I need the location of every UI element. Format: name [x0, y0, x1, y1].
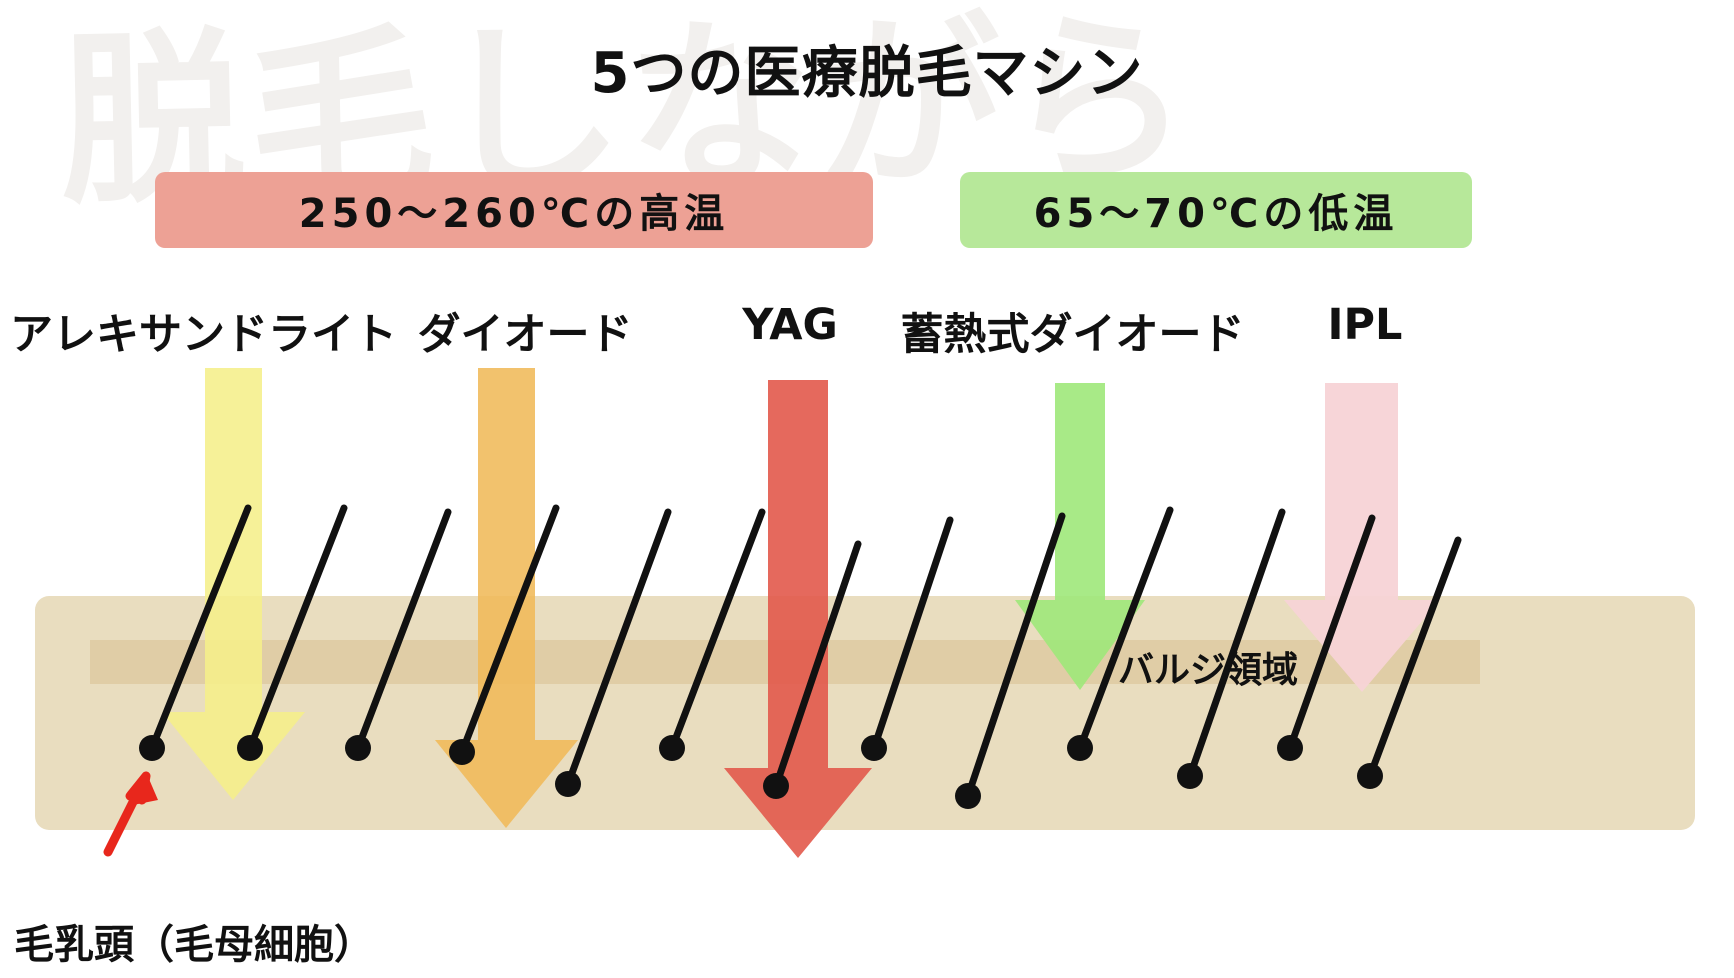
bulge-region-label: バルジ領域: [1118, 641, 1298, 693]
infographic-canvas: 脱毛しながら 5つの医療脱毛マシン 250〜260℃の高温 65〜70℃の低温 …: [0, 0, 1734, 978]
hair-follicle-diagram: [0, 0, 1734, 978]
arrow-yag: [724, 380, 872, 858]
papilla-annotation-label: 毛乳頭（毛母細胞）: [14, 912, 374, 970]
arrow-alexandrite: [162, 368, 305, 800]
papilla-pointer-arrow: [108, 772, 158, 852]
